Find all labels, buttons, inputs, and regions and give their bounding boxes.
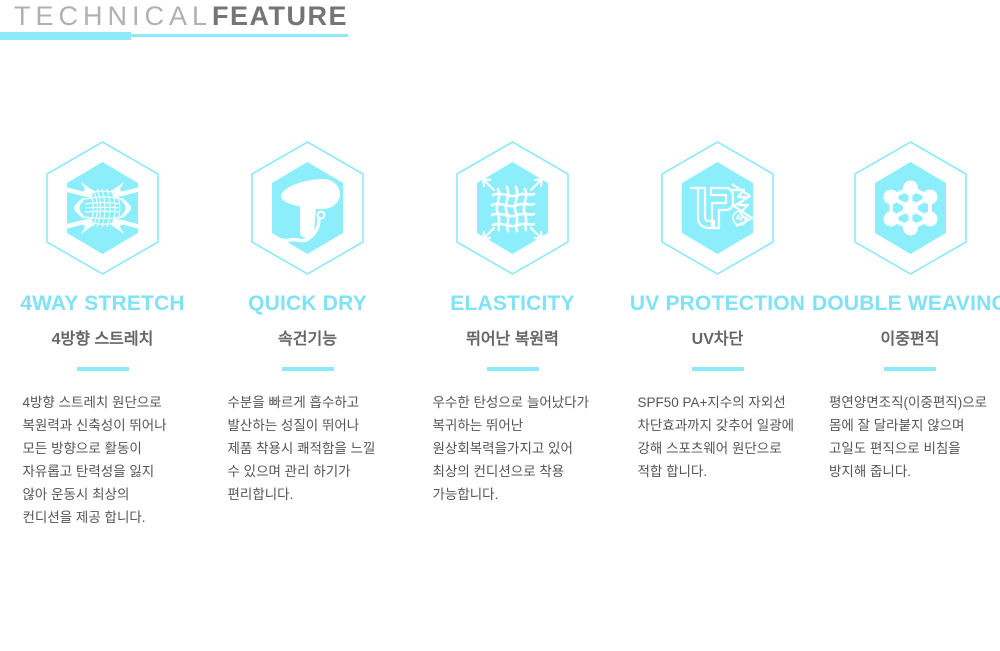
- feature-body: 수분을 빠르게 흡수하고 발산하는 성질이 뛰어나 제품 착용시 쾌적함을 느낄…: [228, 391, 388, 506]
- feature-title: ELASTICITY: [450, 292, 575, 316]
- feature-divider: [282, 367, 334, 371]
- feature-divider: [487, 367, 539, 371]
- feature-subtitle: UV차단: [692, 325, 744, 349]
- elastic-mesh-icon: [435, 140, 590, 276]
- feature-subtitle: 뛰어난 복원력: [466, 325, 559, 349]
- feature-title: QUICK DRY: [248, 292, 367, 316]
- feature-subtitle: 4방향 스트레치: [52, 325, 154, 349]
- page-title-thin: TECHNICAL: [14, 1, 212, 31]
- feature-item-quick-dry: QUICK DRY 속건기능 수분을 빠르게 흡수하고 발산하는 성질이 뛰어나…: [205, 140, 410, 529]
- feature-title: DOUBLE WEAVING: [812, 292, 1000, 316]
- feature-columns: 4WAY STRETCH 4방향 스트레치 4방향 스트레치 원단으로 복원력과…: [0, 140, 1000, 529]
- feature-body: SPF50 PA+지수의 자외선 차단효과까지 갖추어 일광에 강해 스포츠웨어…: [638, 391, 798, 483]
- feature-divider: [77, 367, 129, 371]
- hair-dryer-icon: [230, 140, 385, 276]
- page-header: TECHNICALFEATURE: [0, 0, 1000, 40]
- feature-title: 4WAY STRETCH: [20, 292, 185, 316]
- feature-item-elasticity: ELASTICITY 뛰어난 복원력 우수한 탄성으로 늘어났다가 복귀하는 뛰…: [410, 140, 615, 529]
- feature-divider: [692, 367, 744, 371]
- four-way-stretch-icon: [25, 140, 180, 276]
- feature-title: UV PROTECTION: [630, 292, 805, 316]
- feature-subtitle: 이중편직: [881, 325, 940, 349]
- page-title: TECHNICALFEATURE: [14, 0, 348, 32]
- upf-logo-icon: [640, 140, 795, 276]
- feature-item-4way-stretch: 4WAY STRETCH 4방향 스트레치 4방향 스트레치 원단으로 복원력과…: [0, 140, 205, 529]
- page-title-bold: FEATURE: [212, 1, 348, 31]
- feature-item-double-weaving: DOUBLE WEAVING 이중편직 평연양면조직(이중편직)으로 몸에 잘 …: [820, 140, 1000, 529]
- feature-body: 4방향 스트레치 원단으로 복원력과 신축성이 뛰어나 모든 방향으로 활동이 …: [23, 391, 183, 529]
- feature-body: 평연양면조직(이중편직)으로 몸에 잘 달라붙지 않으며 고일도 편직으로 비침…: [829, 391, 991, 483]
- feature-subtitle: 속건기능: [278, 325, 337, 349]
- molecule-network-icon: [833, 140, 988, 276]
- feature-body: 우수한 탄성으로 늘어났다가 복귀하는 뛰어난 원상회복력을가지고 있어 최상의…: [433, 391, 593, 506]
- feature-divider: [884, 367, 936, 371]
- feature-item-uv-protection: UV PROTECTION UV차단 SPF50 PA+지수의 자외선 차단효과…: [615, 140, 820, 529]
- header-underline-thick: [0, 32, 131, 40]
